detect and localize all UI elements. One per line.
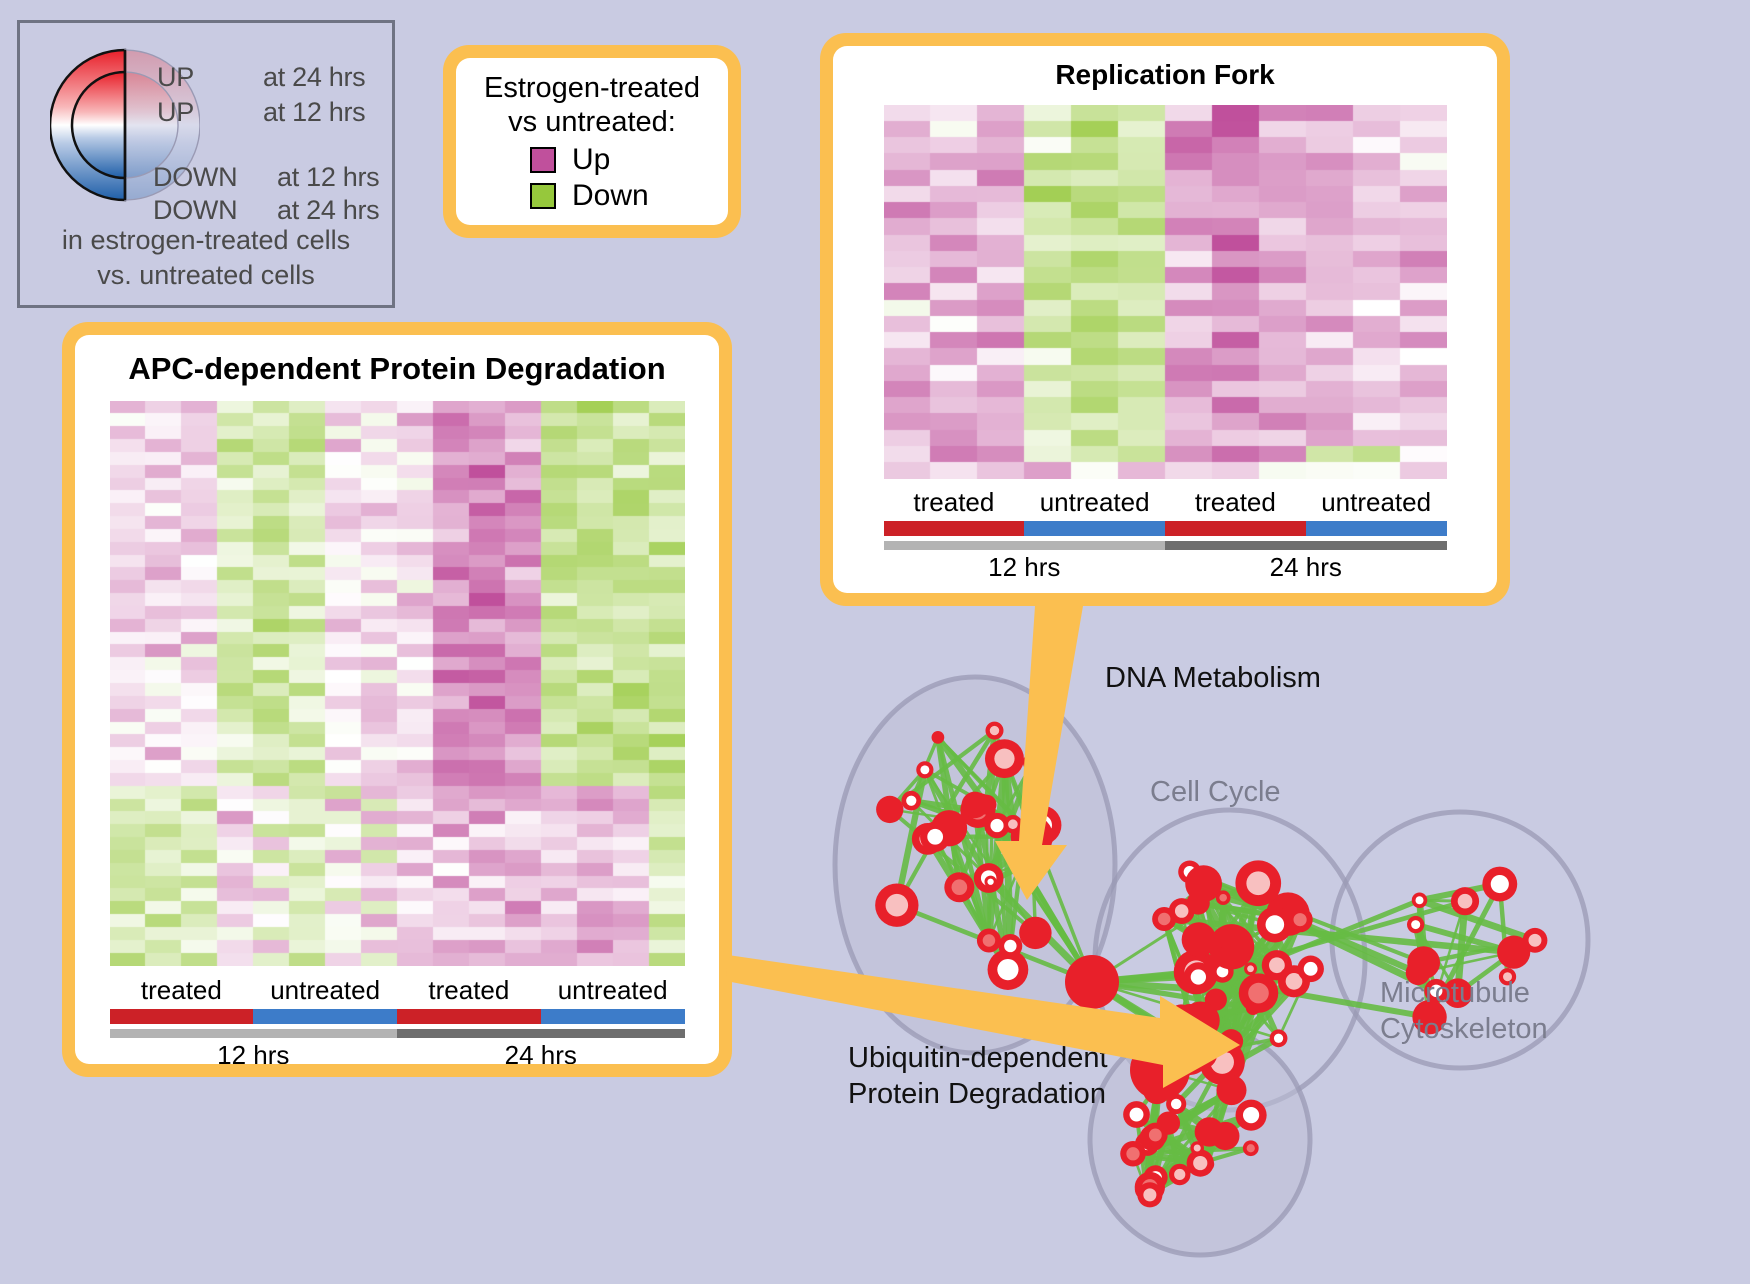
network-node-center [1248,983,1269,1004]
network-node [876,796,903,823]
condition-bar-untreated [1306,521,1447,536]
key-time-3: at 24 hrs [277,195,379,226]
col-label: treated [884,487,1025,521]
network-node [1216,1075,1246,1105]
network-node [1023,753,1043,773]
network-node-center [1458,894,1473,909]
network-node-center [983,934,996,947]
ubiquitin-line2: Protein Degradation [848,1076,1108,1112]
apc-degradation-title: APC-dependent Protein Degradation [75,351,719,387]
legend-label-up: Up [572,145,610,175]
network-node-center [906,796,916,806]
network-node [1187,891,1210,914]
condition-bar-treated [884,521,1025,536]
col-label: untreated [1024,487,1165,521]
key-direction-2: DOWN [153,162,237,193]
network-node-center [1008,819,1018,829]
time-bar-24hrs [1165,541,1447,550]
time-bar-12hrs [884,541,1166,550]
network-node-center [1191,969,1206,984]
legend-title-line2: vs untreated: [456,105,728,139]
apc-degradation-time-bar [110,1029,685,1038]
network-node-center [1219,894,1227,902]
network-node-center [1175,904,1188,917]
key-footer-line2: vs. untreated cells [20,258,392,293]
network-node-center [1274,1034,1283,1043]
microtubule-line2: Cytoskeleton [1380,1011,1548,1047]
cluster-label-dna-metabolism: DNA Metabolism [1105,662,1321,695]
legend-swatch-up-icon [530,147,556,173]
time-label: 12 hrs [110,1040,398,1064]
key-time-2: at 12 hrs [277,162,379,193]
network-node-center [997,959,1018,980]
network-node-center [994,749,1014,769]
network-node [1216,946,1236,966]
network-node [932,731,945,744]
network-node-center [1294,913,1307,926]
network-node-center [1143,1188,1156,1201]
col-label: treated [1165,487,1306,521]
network-node-center [1004,940,1016,952]
pathway-network-diagram: DNA Metabolism Cell Cycle Microtubule Cy… [760,600,1750,1279]
network-graph [760,600,1750,1279]
network-node-center [1411,920,1420,929]
network-node [1130,1040,1190,1100]
network-node-center [1304,962,1318,976]
legend-swatch-down-icon [530,183,556,209]
legend-item-up: Up [530,145,728,175]
cluster-label-ubiquitin-degradation: Ubiquitin-dependent Protein Degradation [848,1040,1108,1113]
apc-degradation-condition-bar [110,1009,685,1024]
network-node-center [1149,1129,1162,1142]
key-footer: in estrogen-treated cells vs. untreated … [20,223,392,292]
replication-fork-heatmap [884,105,1447,479]
apc-degradation-panel-inner: APC-dependent Protein Degradation treate… [75,335,719,1064]
updown-legend-panel: Estrogen-treated vs untreated: Up Down [443,45,741,238]
network-node-center [1247,1144,1255,1152]
network-node-center [1193,1156,1207,1170]
legend-label-down: Down [572,181,649,211]
network-node-center [1247,965,1254,972]
replication-fork-condition-bar [884,521,1447,536]
network-node-center [886,894,909,917]
apc-degradation-heatmap [110,401,685,966]
ubiquitin-line1: Ubiquitin-dependent [848,1040,1108,1076]
time-label: 24 hrs [397,1040,685,1064]
network-node [1065,955,1119,1009]
network-node [1174,1004,1206,1036]
replication-fork-column-labels: treated untreated treated untreated [884,487,1447,521]
cluster-label-microtubule-cytoskeleton: Microtubule Cytoskeleton [1380,975,1548,1048]
replication-fork-axis: treated untreated treated untreated 12 h [884,487,1447,583]
network-node-center [1158,913,1171,926]
time-label: 24 hrs [1165,552,1447,583]
network-node-center [1415,896,1423,904]
replication-fork-time-labels: 12 hrs 24 hrs [884,552,1447,583]
network-node [1019,917,1051,949]
network-node-center [1174,1169,1185,1180]
col-label: untreated [541,975,685,1009]
expression-key-box: UP at 24 hrs UP at 12 hrs DOWN at 12 hrs… [17,20,395,308]
network-node-center [952,879,968,895]
apc-degradation-panel: APC-dependent Protein Degradation treate… [62,322,732,1077]
replication-fork-panel-inner: Replication Fork treated untreated treat… [833,46,1497,593]
replication-fork-title: Replication Fork [833,59,1497,91]
time-label: 12 hrs [884,552,1166,583]
key-time-0: at 24 hrs [263,62,365,93]
network-node-center [927,829,943,845]
apc-degradation-time-labels: 12 hrs 24 hrs [110,1040,685,1064]
apc-degradation-axis: treated untreated treated untreated 12 h [110,975,685,1064]
legend-title: Estrogen-treated vs untreated: [456,58,728,139]
network-node-center [1021,826,1043,848]
time-bar-24hrs [397,1029,685,1038]
key-direction-1: UP [157,97,194,128]
microtubule-line1: Microtubule [1380,975,1548,1011]
network-node-center [1130,1108,1144,1122]
condition-bar-treated [397,1009,541,1024]
network-node-center [990,819,1003,832]
network-node-center [990,726,999,735]
network-node-center [920,765,929,774]
network-node-center [1126,1147,1139,1160]
key-footer-line1: in estrogen-treated cells [20,223,392,258]
network-node [962,792,989,819]
network-node-center [1529,934,1542,947]
col-label: treated [397,975,541,1009]
condition-bar-untreated [541,1009,685,1024]
condition-bar-untreated [253,1009,397,1024]
legend-item-down: Down [530,181,728,211]
condition-bar-treated [1165,521,1306,536]
legend-panel-inner: Estrogen-treated vs untreated: Up Down [456,58,728,225]
network-node-center [1243,1107,1259,1123]
condition-bar-untreated [1024,521,1165,536]
network-node [1211,1122,1239,1150]
network-node-center [1194,1144,1201,1151]
time-bar-12hrs [110,1029,398,1038]
condition-bar-treated [110,1009,254,1024]
key-direction-3: DOWN [153,195,237,226]
network-node-center [1246,871,1270,895]
network-node-center [987,879,993,885]
figure-canvas: UP at 24 hrs UP at 12 hrs DOWN at 12 hrs… [0,0,1750,1279]
replication-fork-time-bar [884,541,1447,550]
replication-fork-panel: Replication Fork treated untreated treat… [820,33,1510,606]
network-node-center [1266,915,1285,934]
apc-degradation-column-labels: treated untreated treated untreated [110,975,685,1009]
network-node-center [1491,875,1509,893]
cluster-label-cell-cycle: Cell Cycle [1150,776,1281,809]
legend-title-line1: Estrogen-treated [456,71,728,105]
network-node [1219,1029,1243,1053]
col-label: untreated [253,975,397,1009]
key-direction-0: UP [157,62,194,93]
network-node-center [1171,1099,1181,1109]
col-label: treated [110,975,254,1009]
key-time-1: at 12 hrs [263,97,365,128]
col-label: untreated [1306,487,1447,521]
